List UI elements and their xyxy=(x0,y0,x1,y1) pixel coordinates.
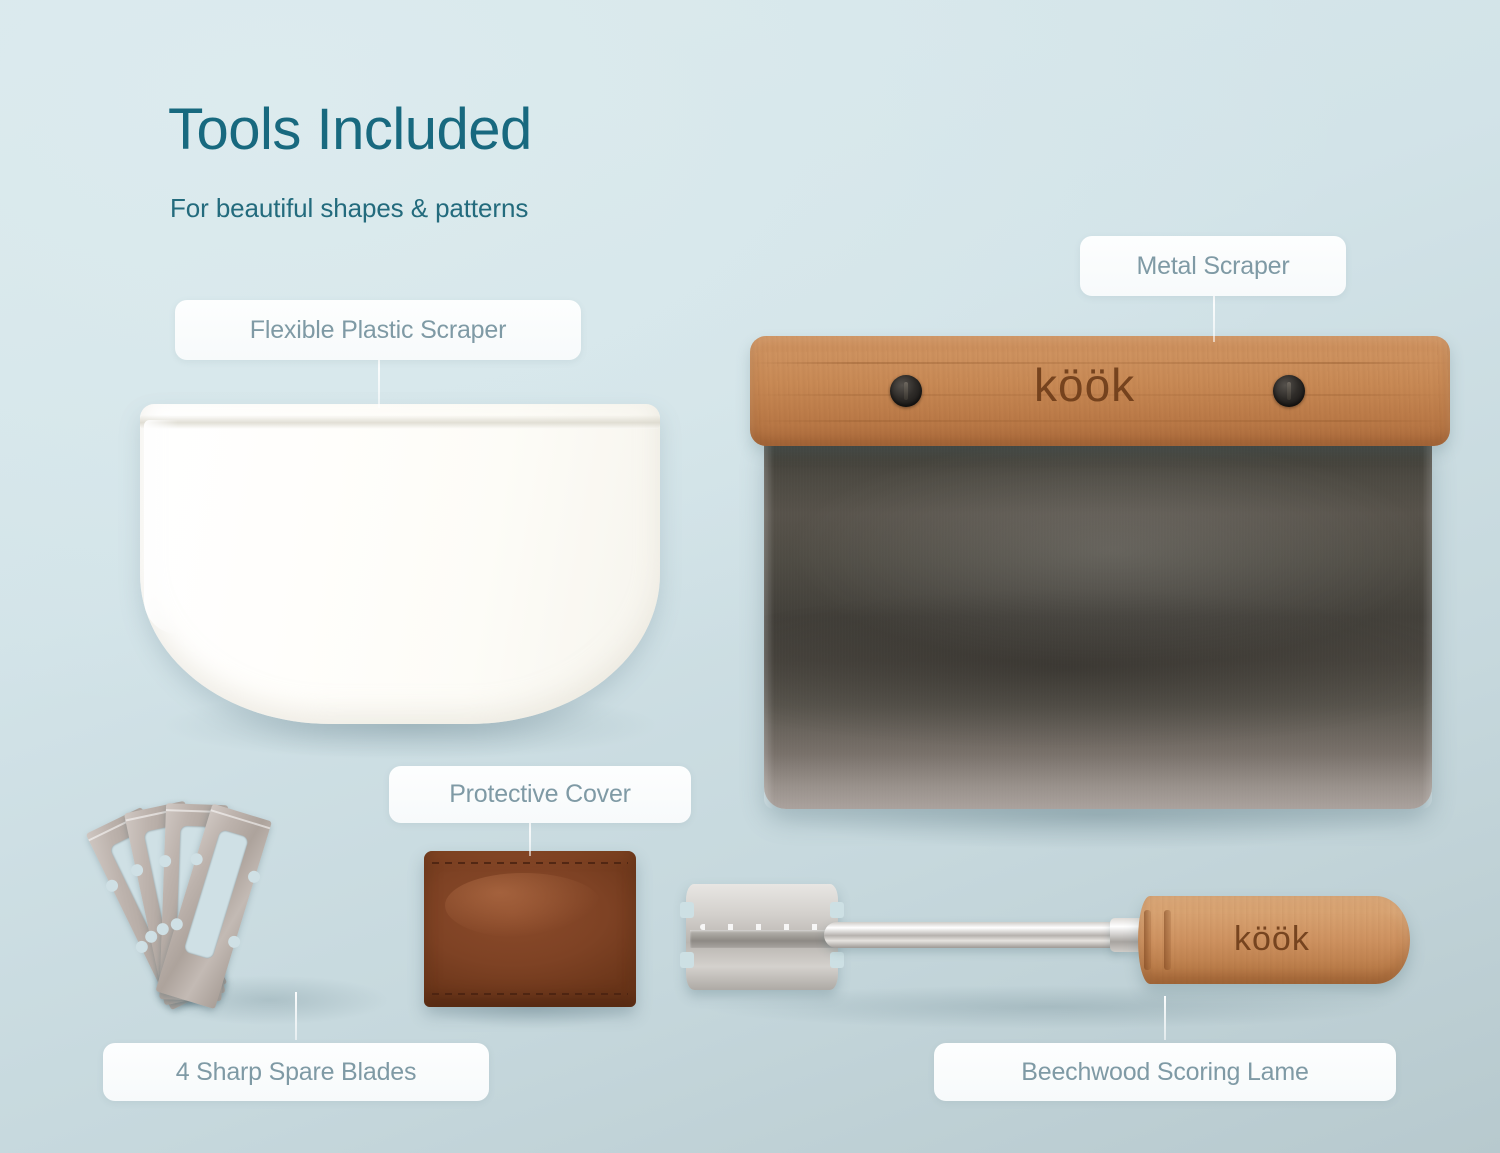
leather-highlight xyxy=(445,873,602,939)
product-metal-scraper: köök xyxy=(750,336,1450,809)
product-flexible-plastic-scraper xyxy=(140,404,660,724)
brand-logo-scoring-lame: köök xyxy=(1234,922,1310,956)
product-spare-blades xyxy=(130,770,410,1020)
plastic-scraper-body xyxy=(140,404,660,724)
lame-metal-shaft xyxy=(824,922,1124,948)
label-text-protective-cover: Protective Cover xyxy=(449,780,631,809)
blade-right-edge xyxy=(1422,440,1432,809)
leader-line-protective-cover xyxy=(529,820,531,856)
lame-razor-blade xyxy=(686,884,838,990)
leader-line-spare-blades xyxy=(295,992,297,1040)
brand-logo-metal-scraper: köök xyxy=(1034,362,1135,408)
label-text-flexible-plastic-scraper: Flexible Plastic Scraper xyxy=(250,316,506,345)
label-text-scoring-lame: Beechwood Scoring Lame xyxy=(1021,1058,1308,1087)
label-flexible-plastic-scraper[interactable]: Flexible Plastic Scraper xyxy=(175,300,581,360)
metal-scraper-blade xyxy=(764,440,1432,809)
page-subtitle: For beautiful shapes & patterns xyxy=(170,193,528,224)
screw-right-icon xyxy=(1273,375,1305,407)
leader-line-metal-scraper xyxy=(1213,296,1215,342)
label-scoring-lame[interactable]: Beechwood Scoring Lame xyxy=(934,1043,1396,1101)
label-protective-cover[interactable]: Protective Cover xyxy=(389,766,691,823)
stitching-top xyxy=(432,862,628,864)
label-spare-blades[interactable]: 4 Sharp Spare Blades xyxy=(103,1043,489,1101)
infographic-canvas: Tools Included For beautiful shapes & pa… xyxy=(0,0,1500,1153)
leader-line-plastic-scraper xyxy=(378,356,380,408)
product-scoring-lame: köök xyxy=(686,876,1410,1006)
page-title: Tools Included xyxy=(168,96,532,163)
lame-wood-handle: köök xyxy=(1138,896,1410,984)
plastic-scraper-rib xyxy=(140,415,660,429)
brand-logo-text: köök xyxy=(1034,359,1135,411)
brand-logo-text-lame: köök xyxy=(1234,920,1310,958)
label-text-metal-scraper: Metal Scraper xyxy=(1136,252,1289,281)
label-text-spare-blades: 4 Sharp Spare Blades xyxy=(176,1058,417,1087)
plastic-scraper-highlight xyxy=(144,420,178,634)
label-metal-scraper[interactable]: Metal Scraper xyxy=(1080,236,1346,296)
stitching-bottom xyxy=(432,993,628,995)
product-protective-cover xyxy=(424,851,636,1007)
blade-left-edge xyxy=(764,440,774,809)
leader-line-scoring-lame xyxy=(1164,996,1166,1040)
screw-left-icon xyxy=(890,375,922,407)
metal-scraper-handle: köök xyxy=(750,336,1450,446)
